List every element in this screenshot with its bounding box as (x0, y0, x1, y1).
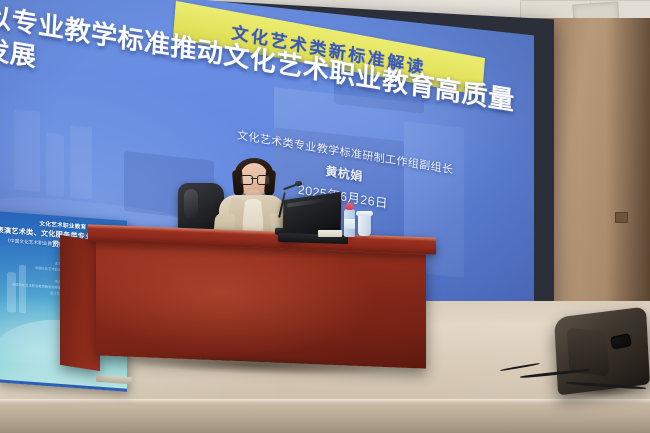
microphone-head-icon (295, 181, 302, 186)
paper-cup (358, 214, 371, 236)
wall-socket-icon (615, 212, 628, 223)
eyeglasses-icon (240, 175, 268, 183)
stage-front-face (0, 403, 650, 433)
paper-cup-lid (356, 211, 373, 216)
desk-papers (318, 230, 342, 237)
water-bottle-label (344, 219, 355, 229)
presenter-shirt (243, 199, 263, 233)
wall-shading (606, 18, 650, 348)
conference-photo-scene: 文化艺术类新标准解读 以专业教学标准推动文化艺术职业教育高质量发展 文化艺术类专… (0, 0, 650, 433)
water-bottle-cap (346, 203, 353, 210)
chair-highlight (184, 189, 198, 219)
